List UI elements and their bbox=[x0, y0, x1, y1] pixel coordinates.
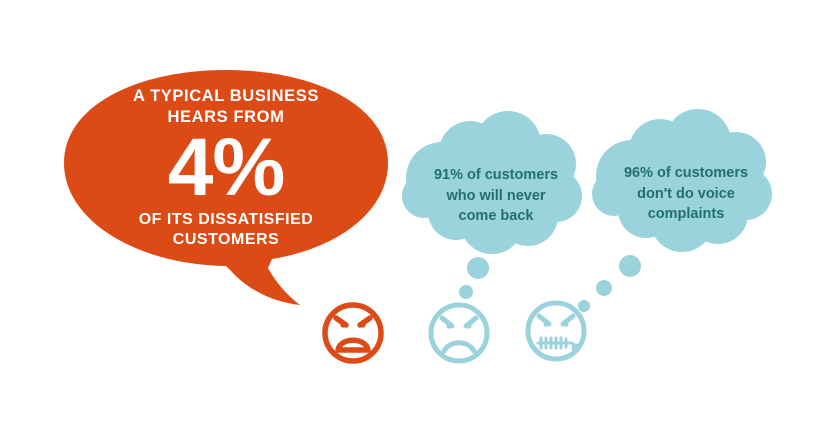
infographic-canvas: A TYPICAL BUSINESS HEARS FROM 4% OF ITS … bbox=[0, 0, 837, 428]
thought-cloud-2-shape bbox=[592, 109, 772, 252]
angry-face-icon-cyan-frown bbox=[431, 305, 487, 361]
thought-trail-dots-1 bbox=[459, 257, 489, 299]
angry-face-icon-orange bbox=[325, 305, 381, 361]
speech-bubble-shape bbox=[64, 70, 388, 305]
infographic-shapes bbox=[0, 0, 837, 428]
zipped-mouth-face-icon bbox=[528, 303, 584, 359]
thought-trail-dots-2 bbox=[578, 255, 641, 312]
thought-cloud-1-shape bbox=[402, 111, 582, 254]
